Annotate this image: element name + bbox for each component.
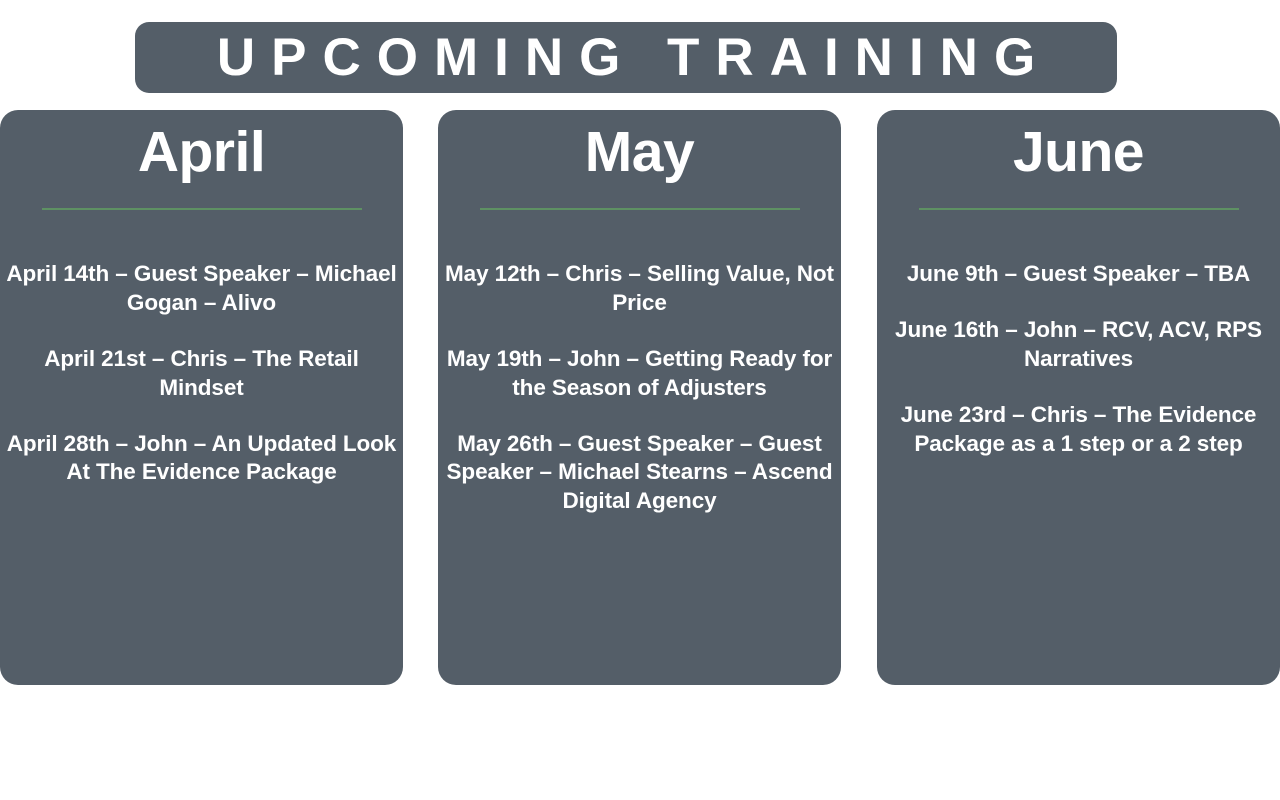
month-card-april: April April 14th – Guest Speaker – Micha… [0,110,403,685]
month-card-june: June June 9th – Guest Speaker – TBA June… [877,110,1280,685]
month-columns: April April 14th – Guest Speaker – Micha… [0,110,1280,685]
divider-line-june [919,208,1239,210]
event-list-april: April 14th – Guest Speaker – Michael Gog… [0,218,403,487]
month-heading-june: June [877,110,1280,186]
month-heading-may: May [438,110,841,186]
divider-wrap-april [0,200,403,218]
month-heading-april: April [0,110,403,186]
divider-line-may [480,208,800,210]
list-item: June 16th – John – RCV, ACV, RPS Narrati… [877,316,1280,374]
page-title: UPCOMING TRAINING [201,31,1051,84]
list-item: June 23rd – Chris – The Evidence Package… [877,401,1280,459]
event-list-june: June 9th – Guest Speaker – TBA June 16th… [877,218,1280,458]
list-item: May 19th – John – Getting Ready for the … [442,345,837,403]
list-item: May 26th – Guest Speaker – Guest Speaker… [442,430,837,516]
month-card-may: May May 12th – Chris – Selling Value, No… [438,110,841,685]
divider-line-april [42,208,362,210]
divider-wrap-may [438,200,841,218]
list-item: April 14th – Guest Speaker – Michael Gog… [4,260,399,318]
list-item: April 21st – Chris – The Retail Mindset [4,345,399,403]
list-item: June 9th – Guest Speaker – TBA [877,260,1280,289]
list-item: May 12th – Chris – Selling Value, Not Pr… [442,260,837,318]
event-list-may: May 12th – Chris – Selling Value, Not Pr… [438,218,841,516]
divider-wrap-june [877,200,1280,218]
header-banner: UPCOMING TRAINING [135,22,1117,93]
list-item: April 28th – John – An Updated Look At T… [4,430,399,488]
